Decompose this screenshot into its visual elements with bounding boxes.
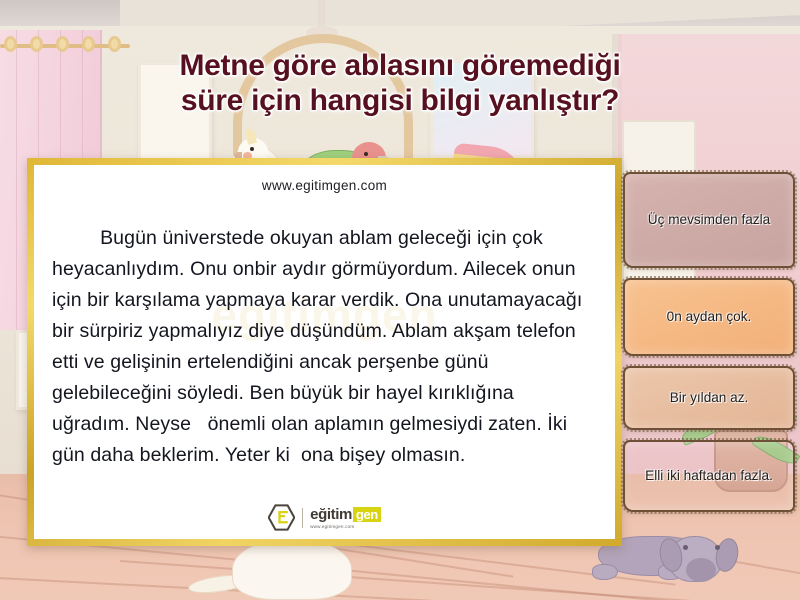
slide-canvas: Metne göre ablasını göremediği süre için…	[0, 0, 800, 600]
logo-tagline: www.egitimgen.com	[310, 524, 354, 529]
answer-option-2-label: 0n aydan çok.	[667, 308, 752, 326]
answer-option-4-label: Elli iki haftadan fazla.	[645, 467, 773, 485]
answer-option-1-label: Üç mevsimden fazla	[648, 211, 770, 229]
brand-logo: eğitim gen www.egitimgen.com	[34, 504, 615, 531]
answer-option-4[interactable]: Elli iki haftadan fazla.	[623, 440, 795, 512]
dog-muzzle	[686, 558, 716, 582]
wall-picture-left	[138, 62, 212, 166]
passage-card-inner: www.egitimgen.com egitimgen Bugün üniver…	[34, 165, 615, 539]
white-cat-icon	[232, 538, 352, 600]
dog-eye	[683, 545, 688, 550]
hexagon-e-icon	[268, 504, 295, 531]
dog-paw	[592, 564, 618, 580]
curtain-ring-icon	[56, 36, 69, 52]
logo-word-row: eğitim gen	[310, 506, 381, 523]
answer-option-1[interactable]: Üç mevsimden fazla	[623, 172, 795, 268]
logo-divider	[302, 508, 303, 528]
passage-card: www.egitimgen.com egitimgen Bugün üniver…	[27, 158, 622, 546]
logo-word-primary: eğitim	[310, 506, 352, 523]
wall-picture-center	[430, 60, 534, 158]
answer-option-3[interactable]: Bir yıldan az.	[623, 366, 795, 430]
dog-eye	[715, 545, 720, 550]
parrot-eye	[364, 152, 368, 156]
passage-text: Bugün üniverstede okuyan ablam geleceği …	[52, 223, 597, 471]
curtain-ring-icon	[108, 36, 121, 52]
site-url-label: www.egitimgen.com	[52, 178, 597, 193]
curtain-ring-icon	[30, 36, 43, 52]
answer-options: Üç mevsimden fazla 0n aydan çok. Bir yıl…	[623, 172, 795, 512]
answer-option-2[interactable]: 0n aydan çok.	[623, 278, 795, 356]
curtain-ring-icon	[4, 36, 17, 52]
logo-wordmark: eğitim gen www.egitimgen.com	[310, 506, 381, 529]
logo-word-accent: gen	[353, 507, 381, 522]
curtain-ring-icon	[82, 36, 95, 52]
cockatiel-eye	[250, 147, 254, 151]
answer-option-3-label: Bir yıldan az.	[670, 389, 749, 407]
